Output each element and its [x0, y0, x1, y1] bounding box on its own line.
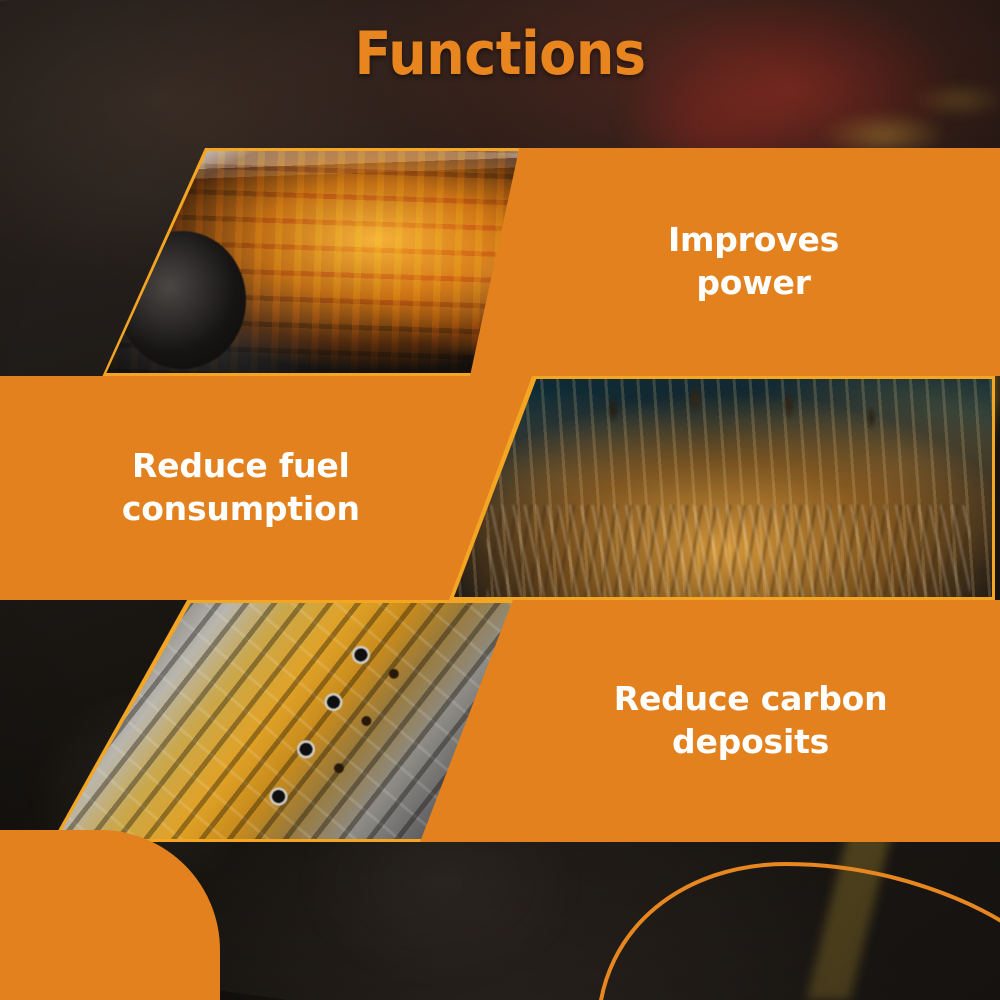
bottom-right-orange-arc [590, 830, 1000, 1000]
feature-label-panel-3: Reduce carbon deposits [420, 600, 1000, 842]
feature-label-1: Improves power [470, 219, 1000, 305]
feature-row-improves-power: Improves power [0, 148, 1000, 376]
feature-image-oil-splash [440, 376, 995, 600]
feature-row-reduce-carbon-deposits: Reduce carbon deposits [0, 600, 1000, 842]
feature-label-1-line-2: power [696, 263, 810, 302]
functions-poster: Functions Improves power Reduce fuel con… [0, 0, 1000, 1000]
feature-label-3-line-2: deposits [672, 722, 829, 761]
feature-label-1-line-1: Improves [668, 220, 839, 259]
feature-label-3: Reduce carbon deposits [420, 678, 1000, 764]
feature-label-2-line-2: consumption [122, 489, 360, 528]
page-title: Functions [50, 24, 950, 84]
oil-splash-artwork [443, 379, 992, 597]
feature-row-reduce-fuel-consumption: Reduce fuel consumption [0, 376, 1000, 600]
feature-label-2-line-1: Reduce fuel [132, 446, 350, 485]
feature-label-panel-1: Improves power [470, 148, 1000, 376]
feature-label-3-line-1: Reduce carbon [614, 679, 888, 718]
image-clip-2 [443, 379, 992, 597]
